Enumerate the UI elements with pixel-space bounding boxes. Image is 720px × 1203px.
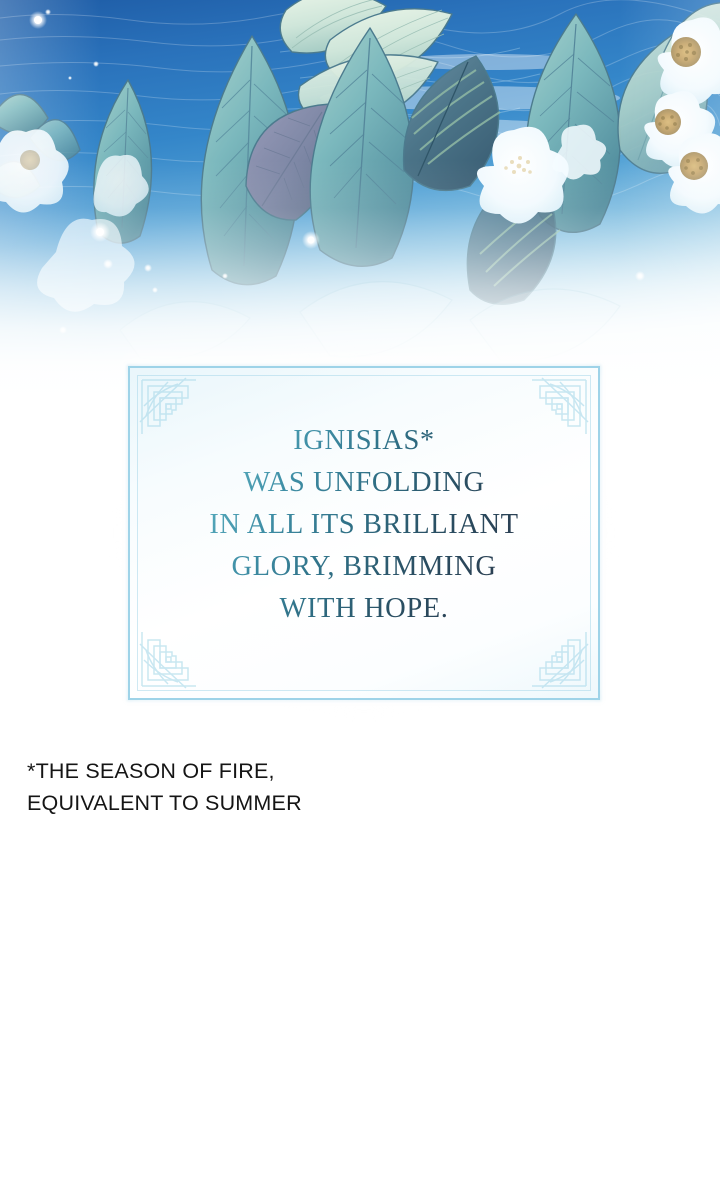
footnote-text: *THE SEASON OF FIRE, EQUIVALENT TO SUMME… <box>27 755 547 819</box>
foliage-water-illustration <box>0 0 720 400</box>
blank-bottom-area <box>0 835 720 1203</box>
quote-card: IGNISIAS* WAS UNFOLDING IN ALL ITS BRILL… <box>128 366 600 700</box>
quote-card-wrapper: IGNISIAS* WAS UNFOLDING IN ALL ITS BRILL… <box>128 366 600 700</box>
illustration-panel <box>0 0 720 400</box>
quote-text: IGNISIAS* WAS UNFOLDING IN ALL ITS BRILL… <box>130 420 598 630</box>
webtoon-panel: IGNISIAS* WAS UNFOLDING IN ALL ITS BRILL… <box>0 0 720 1203</box>
